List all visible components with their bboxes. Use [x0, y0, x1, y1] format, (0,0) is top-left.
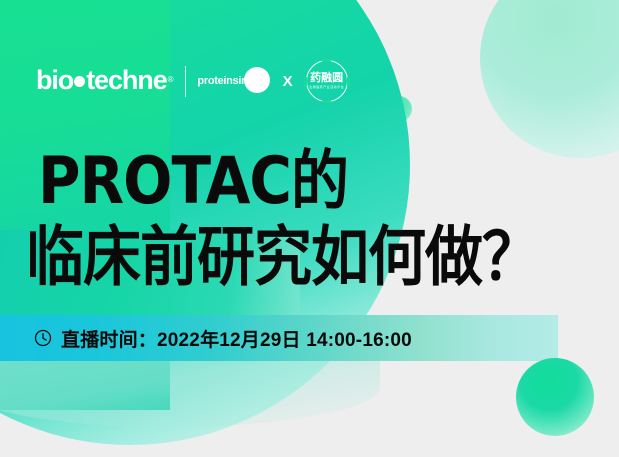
logo-biotechne-text-before: bio	[36, 67, 73, 94]
dot-separator-icon	[74, 76, 85, 87]
registered-trademark-icon: ®	[168, 76, 173, 84]
logo-biotechne: bio techne ®	[36, 67, 172, 94]
decorative-circle-bottom-right	[516, 358, 594, 436]
headline: PROTAC的 临床前研究如何做？	[38, 148, 539, 282]
clock-icon	[34, 329, 52, 347]
decorative-circle-top-right	[480, 0, 619, 158]
circle-notch-bottom-icon	[322, 100, 331, 103]
schedule-text: 直播时间：2022年12月29日 14:00-16:00	[61, 325, 412, 352]
circle-notch-right-icon	[347, 77, 350, 86]
logo-biotechne-text-after: techne	[86, 67, 166, 94]
logo-divider	[185, 66, 186, 97]
circle-notch-left-icon	[304, 77, 307, 86]
logo-partner-subtitle: 生物医药产业活动平台	[309, 86, 344, 89]
circle-notch-top-icon	[322, 59, 331, 62]
schedule-content: 直播时间：2022年12月29日 14:00-16:00	[34, 325, 412, 352]
logo-conjunction: X	[283, 73, 293, 90]
logo-proteinsimple-text: proteinsimple	[197, 75, 265, 87]
schedule-bar: 直播时间：2022年12月29日 14:00-16:00	[0, 315, 558, 361]
headline-line-1: PROTAC的	[38, 148, 539, 213]
logo-proteinsimple: proteinsimple	[197, 66, 265, 96]
logo-row: bio techne ® proteinsimple X 药融圆 生物医药产业活…	[36, 60, 348, 102]
logo-partner-circle: 药融圆 生物医药产业活动平台	[306, 60, 348, 102]
headline-line-2: 临床前研究如何做？	[26, 224, 539, 289]
logo-partner-characters: 药融圆	[310, 73, 343, 84]
webinar-promo-banner: bio techne ® proteinsimple X 药融圆 生物医药产业活…	[0, 0, 619, 457]
